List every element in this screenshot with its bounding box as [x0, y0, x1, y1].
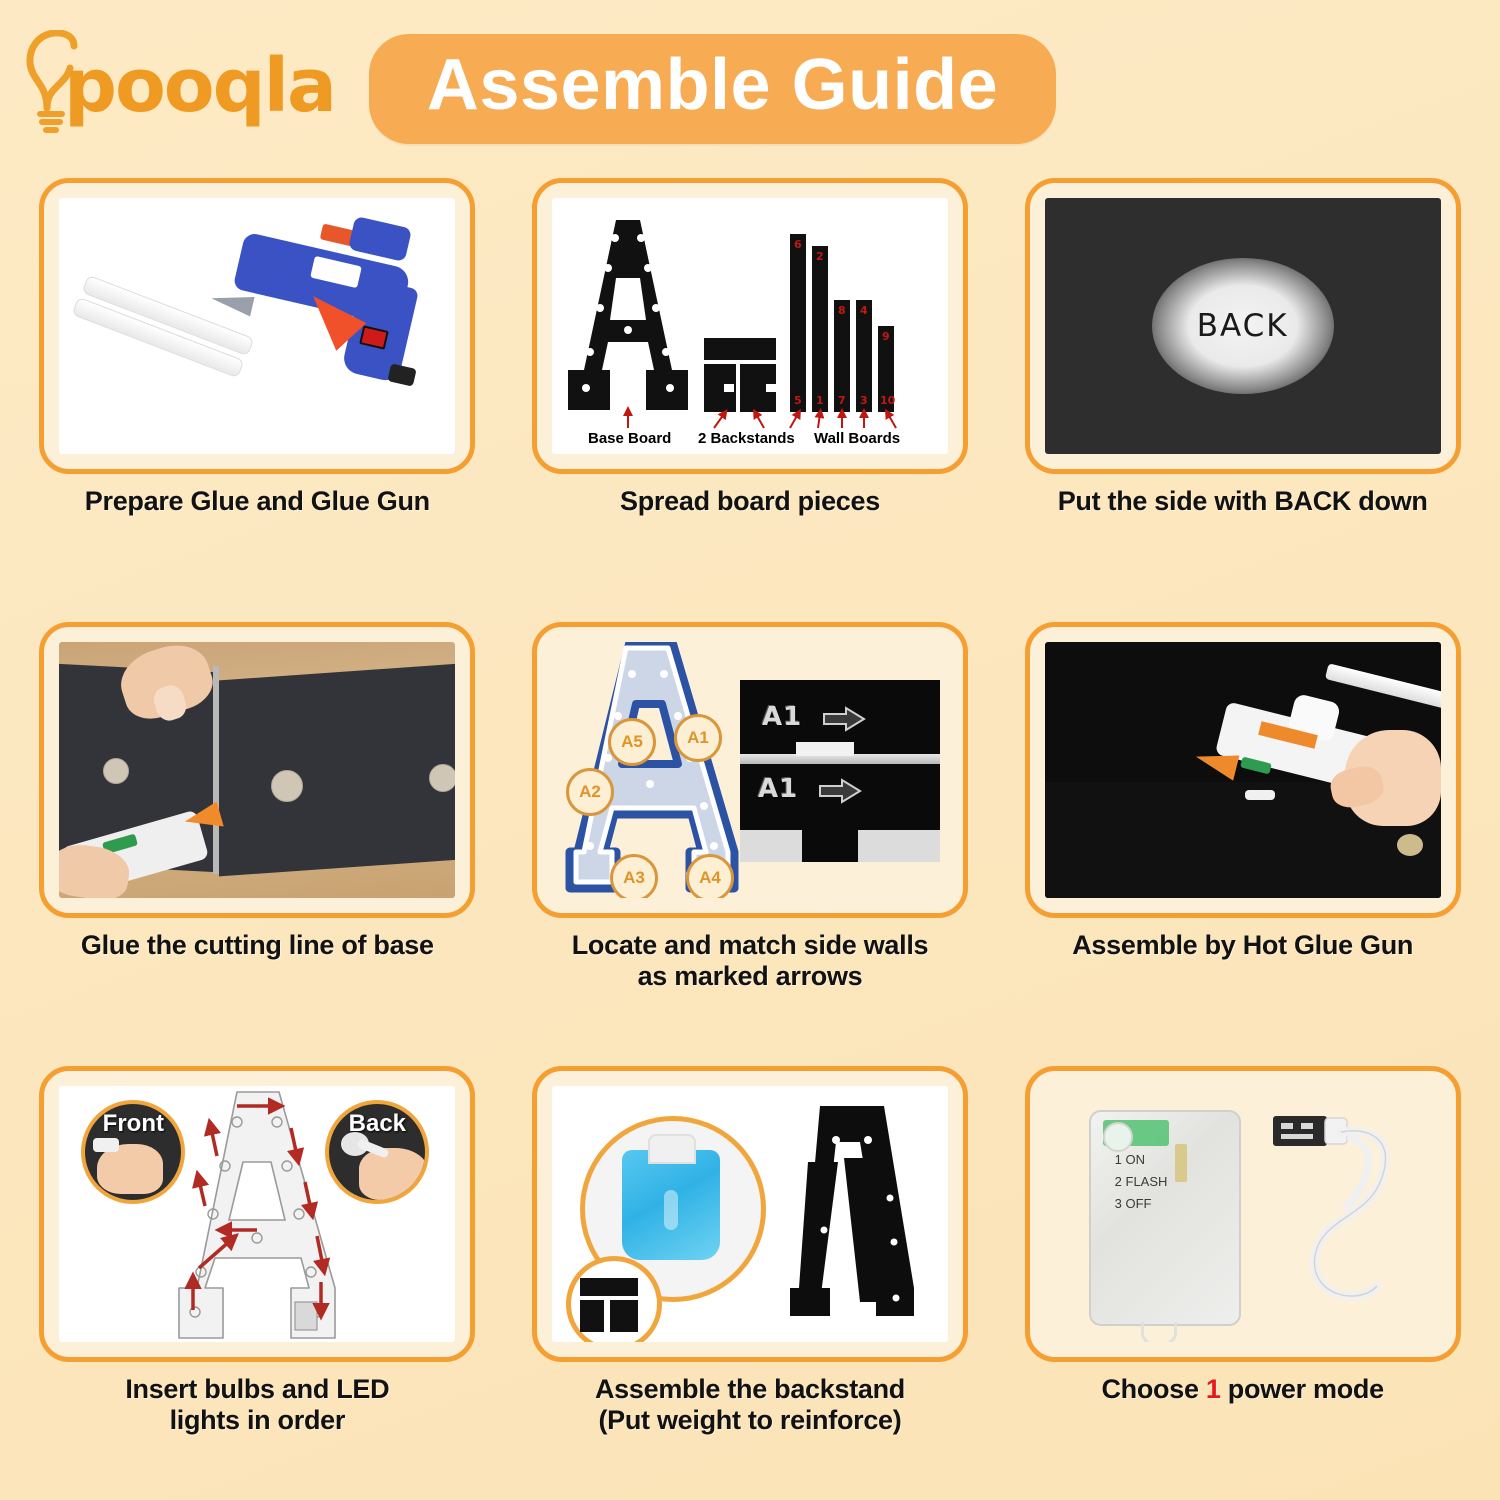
- wall-board-num-6: 6: [794, 238, 802, 251]
- step-caption-9-prefix: Choose: [1101, 1374, 1205, 1404]
- title-banner: Assemble Guide: [369, 34, 1056, 143]
- step-caption-9-suffix: power mode: [1221, 1374, 1384, 1404]
- step-caption-3: Put the side with BACK down: [1058, 486, 1428, 517]
- step-caption-7-line2: lights in order: [125, 1405, 389, 1436]
- step-card-1: Prepare Glue and Glue Gun: [26, 178, 489, 610]
- step-caption-4: Glue the cutting line of base: [81, 930, 434, 961]
- letter-a-template: [159, 1090, 355, 1342]
- step-card-7: Front Back Insert bulbs and LED lights i…: [26, 1066, 489, 1498]
- step-caption-5-line1: Locate and match side walls: [572, 930, 929, 961]
- wall-board-num-8: 8: [838, 304, 846, 317]
- step-caption-5: Locate and match side walls as marked ar…: [572, 930, 929, 992]
- marker-a3: A3: [610, 854, 658, 898]
- arrow-label-a1-bottom: A1: [758, 774, 798, 804]
- step-card-3: BACK Put the side with BACK down: [1011, 178, 1474, 610]
- bulb-order-diagram: Front Back: [59, 1086, 455, 1342]
- dark-board: BACK: [1045, 198, 1441, 454]
- step-caption-9: Choose 1 power mode: [1101, 1374, 1383, 1405]
- marker-a2: A2: [566, 768, 614, 816]
- arrow-label-a1-top: A1: [762, 702, 802, 732]
- step-card-5: A5 A1 A2 A3 A4 A1 A1: [519, 622, 982, 1054]
- brand-logo: pooqla: [22, 30, 335, 142]
- step-caption-5-line2: as marked arrows: [572, 961, 929, 992]
- step-caption-6: Assemble by Hot Glue Gun: [1072, 930, 1413, 961]
- label-backstands: 2 Backstands: [698, 430, 795, 447]
- marker-a4: A4: [686, 854, 734, 898]
- base-board-shape: [568, 220, 688, 410]
- step-caption-2: Spread board pieces: [620, 486, 880, 517]
- backstand-assembly-photo: [552, 1086, 948, 1342]
- step-caption-1: Prepare Glue and Glue Gun: [85, 486, 430, 517]
- hot-glue-gun-photo: [1045, 642, 1441, 898]
- step-image-8: [532, 1066, 968, 1362]
- step-image-6: [1025, 622, 1461, 918]
- step-caption-7-line1: Insert bulbs and LED: [125, 1374, 389, 1405]
- step-caption-7: Insert bulbs and LED lights in order: [125, 1374, 389, 1436]
- label-base-board: Base Board: [588, 430, 671, 447]
- usb-cable: [1255, 1110, 1427, 1322]
- marker-a1: A1: [674, 714, 722, 762]
- step-caption-8-line1: Assemble the backstand: [595, 1374, 905, 1405]
- brand-name: pooqla: [64, 49, 335, 123]
- step-image-1: [39, 178, 475, 474]
- step-image-7: Front Back: [39, 1066, 475, 1362]
- gluing-base-photo: [59, 642, 455, 898]
- right-arrow-icon-bottom: [818, 778, 862, 804]
- power-mode-3: 3 OFF: [1115, 1196, 1152, 1211]
- power-mode-number: 1: [1206, 1374, 1221, 1404]
- step-caption-8: Assemble the backstand (Put weight to re…: [595, 1374, 905, 1436]
- step-card-2: 6 2 8 4 9 5 1 7 3 10: [519, 178, 982, 610]
- back-inset-photo: Back: [325, 1100, 429, 1204]
- step-image-9: 1 ON 2 FLASH 3 OFF: [1025, 1066, 1461, 1362]
- power-mode-1: 1 ON: [1115, 1152, 1145, 1167]
- backstand-pieces: [764, 1102, 944, 1340]
- step-image-4: [39, 622, 475, 918]
- step-image-2: 6 2 8 4 9 5 1 7 3 10: [532, 178, 968, 474]
- board-pieces-diagram: 6 2 8 4 9 5 1 7 3 10: [552, 198, 948, 454]
- right-arrow-icon-top: [822, 706, 866, 732]
- front-label: Front: [103, 1110, 164, 1138]
- step-caption-8-line2: (Put weight to reinforce): [595, 1405, 905, 1436]
- step-card-4: Glue the cutting line of base: [26, 622, 489, 1054]
- page-title: Assemble Guide: [427, 46, 998, 125]
- step-card-8: Assemble the backstand (Put weight to re…: [519, 1066, 982, 1498]
- marker-a5: A5: [608, 718, 656, 766]
- steps-grid: Prepare Glue and Glue Gun: [0, 178, 1500, 1498]
- glue-gun-illustration: [59, 198, 455, 454]
- power-mode-2: 2 FLASH: [1115, 1174, 1168, 1189]
- page-header: pooqla Assemble Guide: [0, 0, 1500, 178]
- step-image-5: A5 A1 A2 A3 A4 A1 A1: [532, 622, 968, 918]
- step-image-3: BACK: [1025, 178, 1461, 474]
- step-card-6: Assemble by Hot Glue Gun: [1011, 622, 1474, 1054]
- back-label-glow: BACK: [1152, 258, 1334, 394]
- side-wall-photo: A1 A1: [740, 680, 940, 862]
- front-inset-photo: Front: [81, 1100, 185, 1204]
- step-card-9: 1 ON 2 FLASH 3 OFF Choose 1 power mode: [1011, 1066, 1474, 1498]
- wall-board-num-9: 9: [882, 330, 890, 343]
- back-text: BACK: [1197, 308, 1289, 344]
- label-wall-boards: Wall Boards: [814, 430, 900, 447]
- wall-board-num-2: 2: [816, 250, 824, 263]
- wall-board-num-4: 4: [860, 304, 868, 317]
